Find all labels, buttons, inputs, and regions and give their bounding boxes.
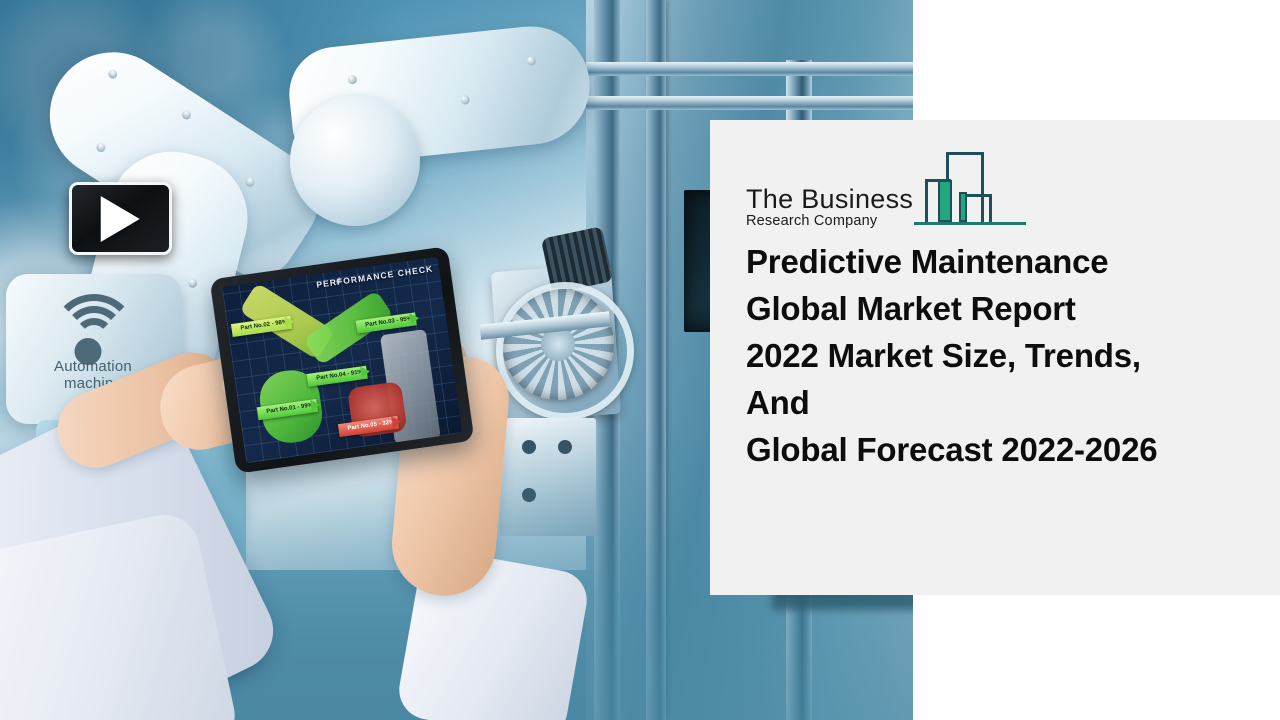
logo-line-1: The Business	[746, 185, 913, 213]
video-play-button[interactable]	[69, 182, 172, 255]
title-line-2: Global Market Report	[746, 285, 1252, 332]
title-line-3: 2022 Market Size, Trends,	[746, 332, 1252, 379]
logo-wordmark: The Business Research Company	[746, 185, 913, 230]
title-line-5: Global Forecast 2022-2026	[746, 426, 1252, 473]
robot-elbow-joint	[290, 96, 420, 226]
title-line-1: Predictive Maintenance	[746, 238, 1252, 285]
machine-rail-upper	[586, 62, 913, 76]
title-line-4: And	[746, 379, 1252, 426]
wifi-icon	[52, 294, 136, 356]
tablet-tag: Part No.04 - 91%	[307, 366, 368, 387]
logo-line-2: Research Company	[746, 213, 877, 229]
play-icon	[100, 196, 139, 242]
slide-root: Automation machine PERFORMANCE CHECK	[0, 0, 1280, 720]
tablet-device: PERFORMANCE CHECK Part No.02 - 98% Part …	[210, 246, 475, 473]
bar-chart-logo-icon	[914, 152, 1030, 230]
machine-rail-lower	[586, 96, 913, 110]
tablet-screen-title: PERFORMANCE CHECK	[316, 263, 434, 289]
page-title: Predictive Maintenance Global Market Rep…	[746, 238, 1252, 473]
logo-bar-filled-1	[938, 180, 952, 222]
tablet-screen: PERFORMANCE CHECK Part No.02 - 98% Part …	[222, 257, 463, 464]
logo-baseline	[914, 222, 1026, 225]
logo-bar-outline-short	[964, 194, 992, 223]
content-panel: The Business Research Company Predictive…	[710, 120, 1280, 595]
company-logo: The Business Research Company	[746, 152, 1030, 230]
logo-bar-filled-2	[959, 192, 967, 222]
